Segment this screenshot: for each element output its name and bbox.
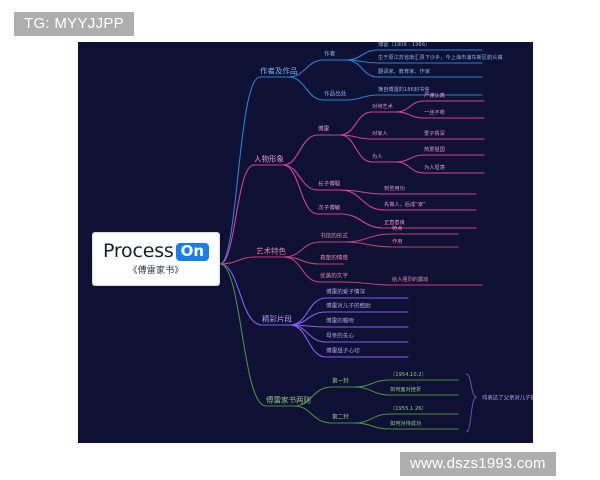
leaf-professions[interactable]: 翻译家、教育家、作家 [378,70,430,77]
leaf-strong-impact[interactable]: 给人强烈的震动 [392,278,428,285]
watermark-top-left: TG: MYYJJPP [14,12,134,36]
node-personal-conduct[interactable]: 为人 [372,155,382,162]
leaf-characteristics[interactable]: 特点 [392,227,402,234]
leaf-birthplace[interactable]: 生于原江苏省南汇县下沙乡，今上海市浦东新区航头镇 [378,56,503,63]
leaf-facing-setbacks[interactable]: 如何面对挫折 [390,388,421,395]
node-eldest-son-focong[interactable]: 长子傅聪 [318,182,340,190]
leaf-second-letter-date[interactable]: （1955.1.26） [390,407,427,414]
leaf-person-before-master[interactable]: 先做人，后成“家” [384,203,426,210]
mindmap-screenshot: 作者及作品 作者 作品出处 傅雷（1908 - 1966） 生于原江苏省南汇县下… [0,0,600,480]
leaf-patriotic[interactable]: 热爱祖国 [424,148,445,155]
watermark-bottom-right: www.dszs1993.com [400,452,556,476]
logo-wordmark: Process [103,242,174,261]
leaf-excerpt-mothers-care[interactable]: 母亲的关心 [326,334,354,342]
node-work-source[interactable]: 作品出处 [324,92,346,100]
leaf-open-hearted[interactable]: 为人坦荡 [424,166,445,173]
leaf-excerpt-love-for-son[interactable]: 傅雷的爱子情深 [326,290,365,298]
leaf-function[interactable]: 作用 [392,240,402,247]
logo-badge: On [176,243,209,261]
leaf-excerpt-parental-devotion[interactable]: 傅雷舐子心切 [326,349,360,357]
leaf-fulei-lifespan[interactable]: 傅雷（1908 - 1966） [378,43,430,50]
leaf-letter-count[interactable]: 摘自傅雷的186封书信 [378,88,429,95]
node-beautiful-prose[interactable]: 优美的文字 [320,274,348,282]
leaf-love-for-son[interactable]: 爱子情深 [424,132,445,139]
branch-label-artistic-features[interactable]: 艺术特色 [256,248,286,258]
node-toward-art[interactable]: 对待艺术 [372,105,393,112]
leaf-diligent[interactable]: 刻苦用功 [384,187,405,194]
root-node[interactable]: Process On 《傅雷家书》 [92,232,220,286]
root-subtitle: 《傅雷家书》 [128,263,183,276]
branch-label-author-and-works[interactable]: 作者及作品 [260,68,298,78]
group-note-parental-devotion: 均表达了父亲对儿子的舐犊之情 [482,397,533,404]
branch-label-two-letters[interactable]: 傅雷家书两则 [266,397,311,407]
leaf-meticulous[interactable]: 一丝不苟 [424,111,445,118]
leaf-excerpt-encouragement[interactable]: 傅雷对儿子的鼓励 [326,304,371,312]
branch-label-highlight-excerpts[interactable]: 精彩片段 [262,316,292,326]
branch-label-character-portrayal[interactable]: 人物形象 [254,156,284,166]
node-first-letter[interactable]: 第一封 [332,379,349,387]
node-sincere-emotion[interactable]: 真挚的情感 [320,256,348,264]
leaf-excerpt-exhortation[interactable]: 傅雷的嘱咐 [326,319,354,327]
node-letter-form[interactable]: 书信的形式 [320,234,348,242]
node-second-son-fumin[interactable]: 次子傅敏 [318,206,340,214]
node-fulei[interactable]: 傅雷 [318,127,329,135]
leaf-handling-success[interactable]: 如何对待成功 [390,422,421,429]
processon-logo: Process On [103,242,209,261]
leaf-rigorous[interactable]: 严谨认真 [424,94,445,101]
node-author[interactable]: 作者 [324,52,335,60]
node-second-letter[interactable]: 第二封 [332,415,349,423]
node-toward-family[interactable]: 对家人 [372,132,388,139]
leaf-first-letter-date[interactable]: （1954.10.2） [390,373,427,380]
